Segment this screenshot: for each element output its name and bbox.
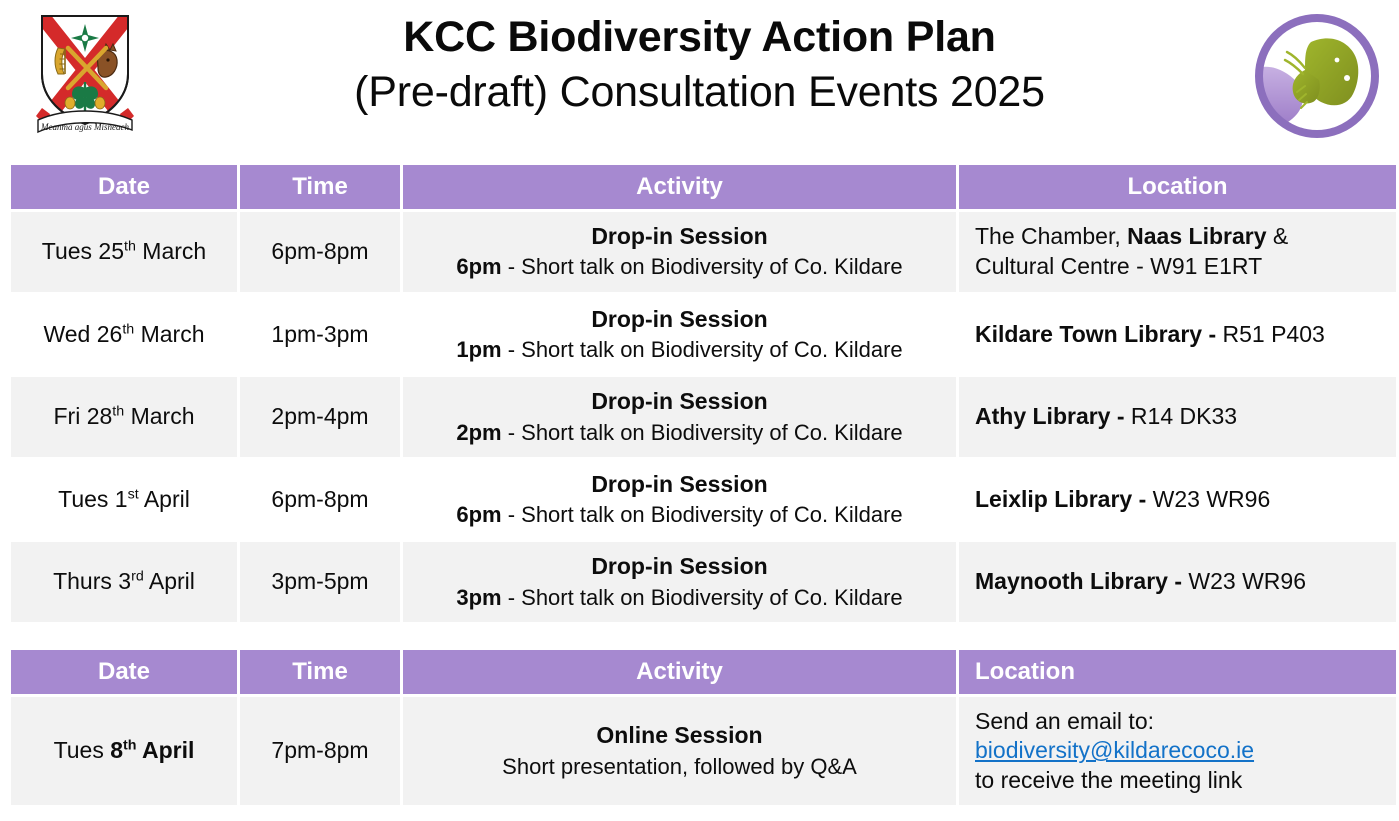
location-venue: Leixlip Library - <box>975 486 1153 512</box>
date-ordinal: th <box>123 738 136 754</box>
date-ordinal: th <box>112 404 124 420</box>
column-header-location: Location <box>959 650 1396 694</box>
motto-ribbon: Meanma agus Misneach <box>36 108 134 132</box>
cell-location: Athy Library - R14 DK33 <box>959 377 1396 457</box>
cell-time: 6pm-8pm <box>240 460 400 540</box>
location-line-1: Send an email to: <box>975 707 1386 736</box>
date-month: March <box>136 238 206 264</box>
date-text: Thurs 3 <box>53 568 131 594</box>
activity-start-time: 6pm <box>456 502 501 527</box>
cell-location: The Chamber, Naas Library & Cultural Cen… <box>959 212 1396 292</box>
cell-date: Thurs 3rd April <box>11 542 237 622</box>
column-header-activity: Activity <box>403 650 956 694</box>
location-venue: Naas Library <box>1127 223 1266 249</box>
cell-date: Tues 25th March <box>11 212 237 292</box>
cell-date: Wed 26th March <box>11 295 237 375</box>
kildare-county-council-crest-icon: Meanma agus Misneach <box>20 4 150 144</box>
activity-detail: 6pm - Short talk on Biodiversity of Co. … <box>413 501 946 529</box>
in-person-events-table: Date Time Activity Location Tues 25th Ma… <box>8 162 1399 625</box>
column-header-date: Date <box>11 650 237 694</box>
location-line-2: Cultural Centre - W91 E1RT <box>975 252 1386 281</box>
cell-time: 2pm-4pm <box>240 377 400 457</box>
activity-description: - Short talk on Biodiversity of Co. Kild… <box>502 337 903 362</box>
activity-description: Short presentation, followed by Q&A <box>413 753 946 781</box>
date-text: Tues 1 <box>58 486 127 512</box>
activity-title: Drop-in Session <box>413 470 946 499</box>
activity-title: Drop-in Session <box>413 305 946 334</box>
column-header-location: Location <box>959 165 1396 209</box>
column-header-activity: Activity <box>403 165 956 209</box>
location-line-1: The Chamber, Naas Library & <box>975 222 1386 251</box>
activity-detail: 3pm - Short talk on Biodiversity of Co. … <box>413 584 946 612</box>
table-row: Wed 26th March 1pm-3pm Drop-in Session 1… <box>11 295 1396 375</box>
activity-description: - Short talk on Biodiversity of Co. Kild… <box>502 585 903 610</box>
cell-location: Send an email to: biodiversity@kildareco… <box>959 697 1396 805</box>
table-row: Fri 28th March 2pm-4pm Drop-in Session 2… <box>11 377 1396 457</box>
location-venue: Kildare Town Library - <box>975 321 1223 347</box>
date-month: April <box>144 568 195 594</box>
location-venue: Athy Library - <box>975 403 1131 429</box>
table-row: Tues 1st April 6pm-8pm Drop-in Session 6… <box>11 460 1396 540</box>
location-eircode: R14 DK33 <box>1131 403 1237 429</box>
page-title: KCC Biodiversity Action Plan (Pre-draft)… <box>150 0 1249 120</box>
cell-activity: Drop-in Session 6pm - Short talk on Biod… <box>403 212 956 292</box>
cell-activity: Drop-in Session 1pm - Short talk on Biod… <box>403 295 956 375</box>
date-text: Tues 25 <box>42 238 124 264</box>
date-day: 8 <box>110 737 123 763</box>
location-prefix: The Chamber, <box>975 223 1127 249</box>
activity-title: Drop-in Session <box>413 387 946 416</box>
cell-date: Tues 8th April <box>11 697 237 805</box>
biodiversity-email-link[interactable]: biodiversity@kildarecoco.ie <box>975 736 1386 765</box>
location-eircode: W23 WR96 <box>1153 486 1271 512</box>
poster-header: Meanma agus Misneach KCC Biodiversity Ac… <box>0 0 1399 155</box>
table-header-row: Date Time Activity Location <box>11 650 1396 694</box>
cell-location: Leixlip Library - W23 WR96 <box>959 460 1396 540</box>
cell-time: 3pm-5pm <box>240 542 400 622</box>
cell-activity: Drop-in Session 3pm - Short talk on Biod… <box>403 542 956 622</box>
date-ordinal: th <box>122 321 134 337</box>
activity-description: - Short talk on Biodiversity of Co. Kild… <box>502 502 903 527</box>
column-header-date: Date <box>11 165 237 209</box>
cell-date: Fri 28th March <box>11 377 237 457</box>
cell-time: 7pm-8pm <box>240 697 400 805</box>
date-ordinal: th <box>124 238 136 254</box>
activity-detail: 6pm - Short talk on Biodiversity of Co. … <box>413 253 946 281</box>
title-line-2: (Pre-draft) Consultation Events 2025 <box>150 65 1249 120</box>
date-month: March <box>134 321 204 347</box>
location-eircode: R51 P403 <box>1223 321 1325 347</box>
activity-detail: 2pm - Short talk on Biodiversity of Co. … <box>413 419 946 447</box>
date-text: Fri 28 <box>54 403 113 429</box>
table-row: Thurs 3rd April 3pm-5pm Drop-in Session … <box>11 542 1396 622</box>
table-header-row: Date Time Activity Location <box>11 165 1396 209</box>
poster-page: Meanma agus Misneach KCC Biodiversity Ac… <box>0 0 1399 821</box>
location-suffix: & <box>1267 223 1289 249</box>
activity-start-time: 6pm <box>456 254 501 279</box>
cell-time: 6pm-8pm <box>240 212 400 292</box>
activity-title: Online Session <box>413 721 946 750</box>
table-row: Tues 8th April 7pm-8pm Online Session Sh… <box>11 697 1396 805</box>
activity-title: Drop-in Session <box>413 222 946 251</box>
cell-activity: Drop-in Session 2pm - Short talk on Biod… <box>403 377 956 457</box>
title-line-1: KCC Biodiversity Action Plan <box>150 10 1249 65</box>
biodiversity-butterfly-logo-icon <box>1249 8 1385 144</box>
cell-location: Maynooth Library - W23 WR96 <box>959 542 1396 622</box>
activity-start-time: 3pm <box>456 585 501 610</box>
activity-description: - Short talk on Biodiversity of Co. Kild… <box>502 420 903 445</box>
location-eircode: W23 WR96 <box>1188 568 1306 594</box>
activity-start-time: 2pm <box>456 420 501 445</box>
activity-title: Drop-in Session <box>413 552 946 581</box>
cell-activity: Drop-in Session 6pm - Short talk on Biod… <box>403 460 956 540</box>
cell-location: Kildare Town Library - R51 P403 <box>959 295 1396 375</box>
cell-date: Tues 1st April <box>11 460 237 540</box>
online-event-table: Date Time Activity Location Tues 8th Apr… <box>8 647 1399 808</box>
location-line-3: to receive the meeting link <box>975 766 1386 795</box>
cell-time: 1pm-3pm <box>240 295 400 375</box>
cell-activity: Online Session Short presentation, follo… <box>403 697 956 805</box>
date-ordinal: st <box>128 486 139 502</box>
date-text: Tues <box>54 737 111 763</box>
column-header-time: Time <box>240 165 400 209</box>
activity-description: - Short talk on Biodiversity of Co. Kild… <box>502 254 903 279</box>
activity-start-time: 1pm <box>456 337 501 362</box>
activity-detail: 1pm - Short talk on Biodiversity of Co. … <box>413 336 946 364</box>
date-month: March <box>124 403 194 429</box>
date-text: Wed 26 <box>43 321 122 347</box>
column-header-time: Time <box>240 650 400 694</box>
location-venue: Maynooth Library - <box>975 568 1188 594</box>
date-ordinal: rd <box>131 569 144 585</box>
crest-motto-text: Meanma agus Misneach <box>40 122 129 132</box>
date-month: April <box>136 737 194 763</box>
table-row: Tues 25th March 6pm-8pm Drop-in Session … <box>11 212 1396 292</box>
date-month: April <box>139 486 190 512</box>
